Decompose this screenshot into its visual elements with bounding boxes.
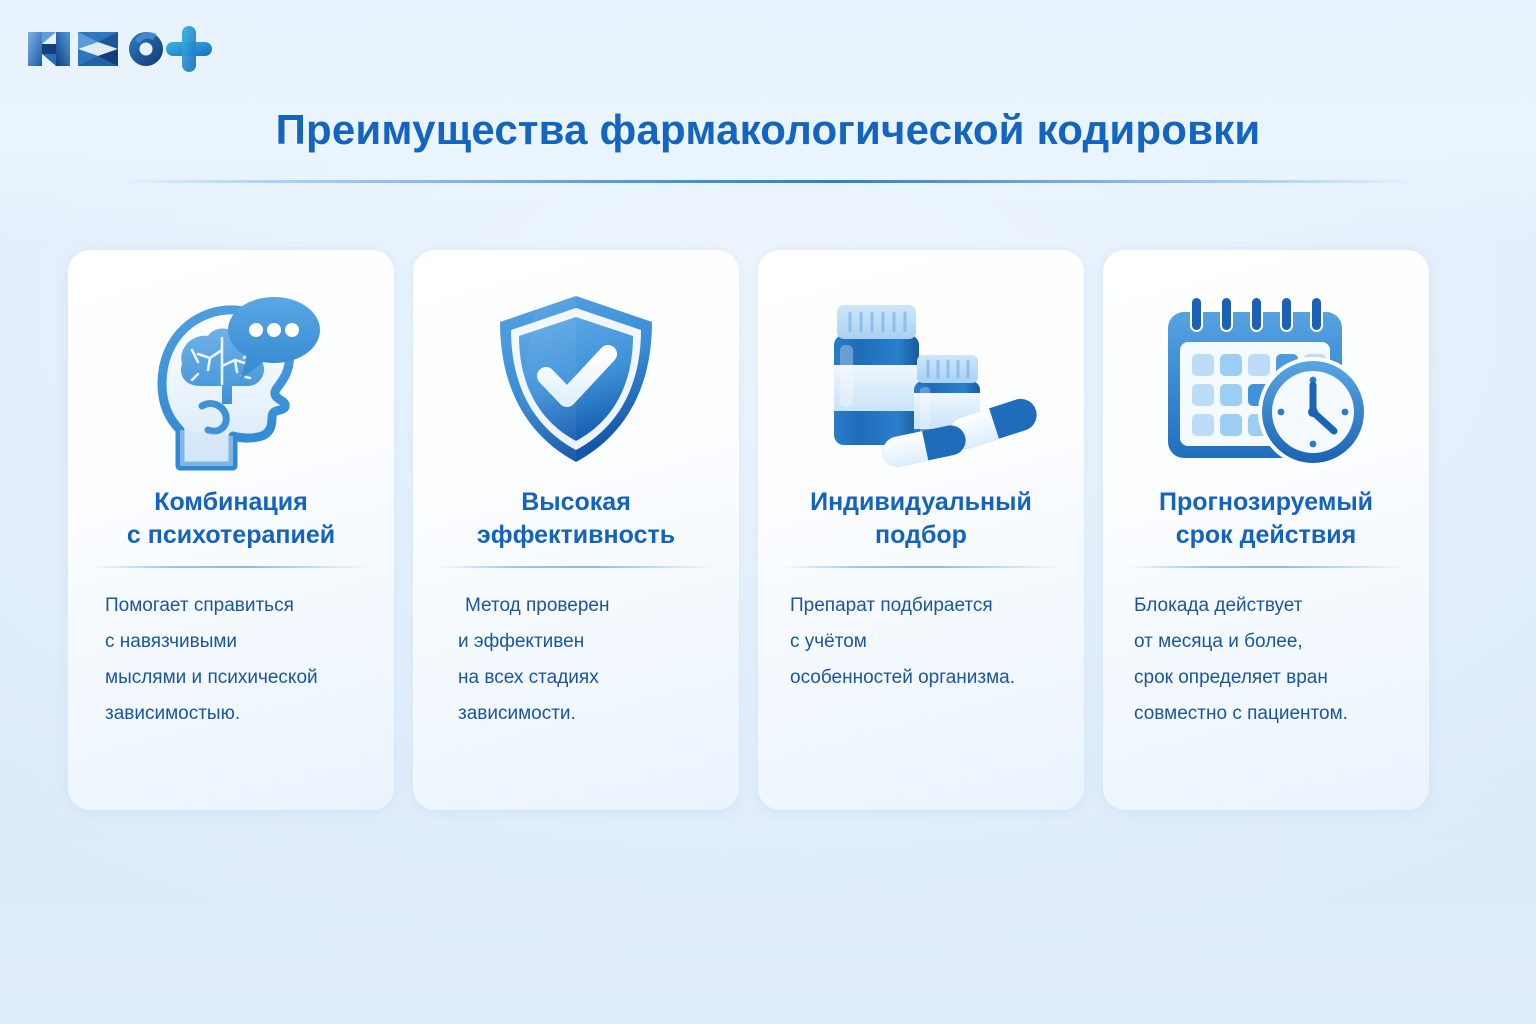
card-body-line: с навязчивыми [105,624,391,660]
card-divider [1127,566,1405,568]
brain-head-speech-bubble-icon [136,280,326,480]
card-body: Метод проверен и эффективен на всех стад… [413,588,739,732]
card-body: Препарат подбирается с учётом особенност… [758,588,1084,696]
card-body-line: совместно с пациентом. [1134,696,1429,732]
card-divider [92,566,370,568]
card-heading: Индивидуальный подбор [771,486,1071,552]
benefit-card-effectiveness[interactable]: Высокая эффективность Метод проверен и э… [413,250,739,810]
card-body-line: с учётом [790,624,1084,660]
logo-plus-icon [166,26,212,72]
card-heading-line: с психотерапией [81,519,381,552]
large-bottle [834,305,919,445]
card-body-line: мыслями и психической [105,660,391,696]
card-body: Помогает справиться с навязчивыми мыслям… [71,588,391,732]
benefit-card-combination[interactable]: Комбинация с психотерапией Помогает спра… [68,250,394,810]
page-title: Преимущества фармакологической кодировки [0,106,1536,154]
card-heading: Прогнозируемый срок действия [1116,486,1416,552]
title-divider [118,180,1418,183]
card-body-line: особенностей организма. [790,660,1084,696]
infographic-slide: Преимущества фармакологической кодировки [0,0,1536,1024]
card-body-line: Препарат подбирается [790,588,1084,624]
card-heading-line: Комбинация [81,486,381,519]
card-body-line: Метод проверен [458,588,739,624]
logo-letter-e [78,32,118,66]
logo-letter-n [28,32,70,66]
clock [1258,357,1368,467]
card-heading-line: подбор [771,519,1071,552]
card-heading-line: Прогнозируемый [1116,486,1416,519]
benefit-card-row: Комбинация с психотерапией Помогает спра… [68,250,1468,810]
card-divider [437,566,715,568]
card-body-line: Помогает справиться [105,588,391,624]
card-divider [782,566,1060,568]
card-heading-line: Высокая [426,486,726,519]
card-heading-line: срок действия [1116,519,1416,552]
card-heading: Высокая эффективность [426,486,726,552]
card-body-line: зависимости. [458,696,739,732]
pill-bottles-capsules-icon [804,280,1039,480]
card-body-line: зависимостыю. [105,696,391,732]
card-body-line: срок определяет вран [1134,660,1429,696]
shield-check-icon [489,280,664,480]
card-body-line: на всех стадиях [458,660,739,696]
card-body-line: от месяца и более, [1134,624,1429,660]
card-body-line: Блокада действует [1134,588,1429,624]
card-heading: Комбинация с психотерапией [81,486,381,552]
card-heading-line: эффективность [426,519,726,552]
brand-logo[interactable] [22,18,222,80]
benefit-card-predictable-duration[interactable]: Прогнозируемый срок действия Блокада дей… [1103,250,1429,810]
calendar-clock-icon [1154,280,1379,480]
benefit-card-individual-selection[interactable]: Индивидуальный подбор Препарат подбирает… [758,250,1084,810]
logo-letter-o [129,32,163,66]
card-body: Блокада действует от месяца и более, сро… [1103,588,1429,732]
card-heading-line: Индивидуальный [771,486,1071,519]
card-body-line: и эффективен [458,624,739,660]
